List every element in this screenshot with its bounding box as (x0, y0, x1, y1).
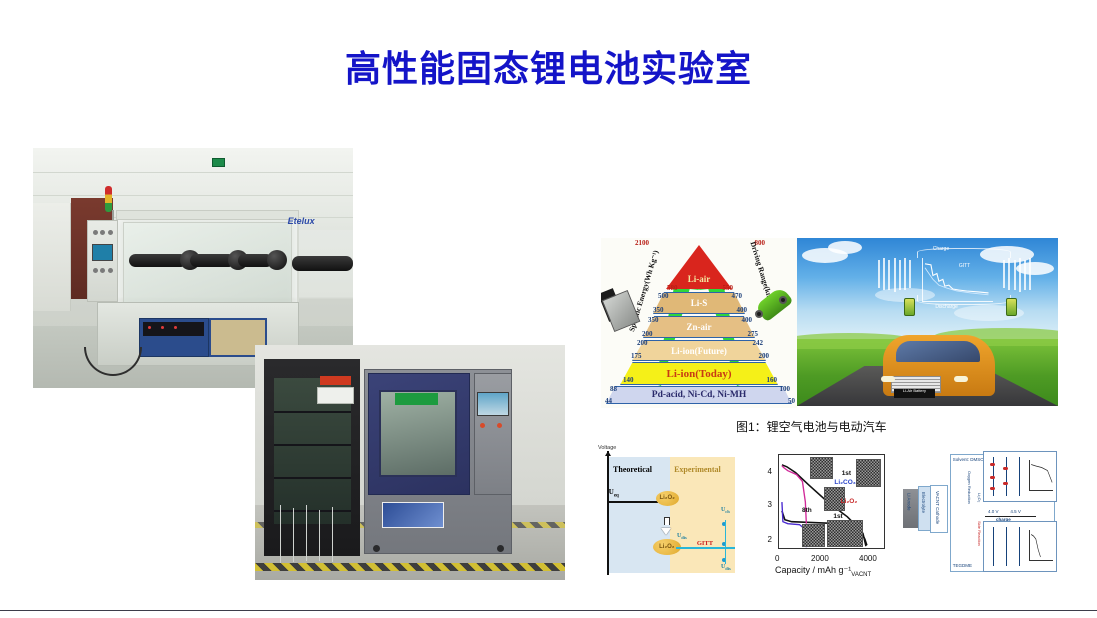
car-wheel-front (779, 296, 787, 304)
u-dis-right-subscript: dis (725, 566, 731, 571)
sem-inset-bottom-left (802, 524, 825, 546)
u-eq-subscript: eq (614, 494, 619, 499)
voltage-low-label: 4.0 V (988, 509, 999, 514)
y-tick-3: 3 (768, 500, 772, 509)
car-wheel-rear (755, 310, 763, 318)
tier-2-right-value-2: 275 (748, 330, 759, 338)
tier-5-left-value: 88 (610, 385, 617, 393)
equipment-front-panel (143, 322, 204, 336)
cycling-plot-bottom (1029, 530, 1053, 561)
glovebox-brand-logo: Etelux (288, 216, 315, 226)
gitt-label: GITT (959, 263, 970, 269)
schematic-panel-top (983, 451, 1057, 501)
annotation-8th: 8th (802, 507, 812, 514)
car-battery-badge: Li-Air Battery (894, 389, 936, 397)
transition-arrow-icon (661, 528, 671, 535)
glove-port-1 (129, 254, 187, 267)
pyramid-tier-label-2: Zn-air (686, 322, 711, 332)
test-chamber-photo (255, 345, 565, 580)
pyramid-tier-label-0: Li-air (688, 274, 711, 284)
cycling-plot-top (1029, 460, 1053, 491)
battery-energy-pyramid: Li-air 2100 800 580 550 Li-S 500 470 350… (601, 238, 797, 408)
x-tick-2000: 2000 (811, 554, 829, 563)
annotation-li2co3: Li₂CO₃ (834, 479, 855, 486)
pyramid-tier-zn-air: Zn-air (643, 316, 755, 338)
x-tick-4000: 4000 (859, 554, 877, 563)
u-ch-right-subscript: ch (725, 510, 730, 515)
glovebox-top-rail (116, 210, 298, 220)
reaction-step-1: Oxygen Reduction (967, 471, 972, 504)
glove-hand-3 (267, 250, 287, 270)
tier-0-left-value: 580 (667, 284, 678, 292)
y-tick-4: 4 (768, 467, 772, 476)
theoretical-experimental-voltage-diagram: Voltage Theoretical Experimental Ueq Li₂… (596, 443, 738, 580)
schematic-panel-bottom (983, 521, 1057, 571)
pyramid-tier-label-3: Li-ion(Future) (671, 346, 727, 356)
tier-5-right-value: 100 (780, 385, 791, 393)
car-headlight-right (954, 376, 968, 382)
component-3-label: VACNT Cathode (935, 491, 940, 524)
car-headlight-left (881, 376, 895, 382)
chamber-window-label (395, 393, 438, 405)
tier-3-right-value: 242 (753, 339, 764, 347)
chart-x-axis-label: Capacity / mAh g⁻¹VACNT (775, 565, 871, 578)
tier-1-right-value: 470 (732, 292, 743, 300)
pyramid-tier-li-ion-future: Li-ion(Future) (632, 340, 766, 361)
theoretical-label: Theoretical (613, 465, 652, 474)
annotation-1st-discharge: 1st (833, 513, 842, 520)
chamber-placard (382, 502, 444, 528)
chart-plot-area: 1st 8th 1st Li₂CO₃ Li₂O₂ (778, 454, 885, 549)
x-tick-0: 0 (775, 554, 779, 563)
rack-warning-label (320, 376, 351, 385)
presentation-slide: 高性能固态锂电池实验室 Etelux (0, 0, 1097, 618)
tier-5-right-value-2: 50 (788, 397, 795, 405)
chamber-touchscreen[interactable] (477, 392, 510, 416)
gitt-vertical-connector (725, 520, 727, 564)
car-windshield (896, 341, 980, 363)
voltage-y-axis (607, 451, 609, 574)
solvent-bottom-label: TEGDME (953, 563, 972, 568)
u-dis-subscript: dis (681, 536, 687, 541)
tier-3-left-value-2: 175 (631, 352, 642, 360)
annotation-li2o2: Li₂O₂ (841, 498, 858, 505)
component-2-label: Electrolyte (921, 492, 926, 513)
sem-inset-top-right (856, 459, 881, 487)
experimental-label: Experimental (674, 465, 721, 474)
tier-4-right-value: 160 (767, 376, 778, 384)
gitt-annotation: GITT (697, 540, 713, 547)
exit-sign-icon (212, 158, 225, 167)
transition-arrow-stem (664, 517, 670, 525)
tier-2-left-value-2: 200 (642, 330, 653, 338)
page-title: 高性能固态锂电池实验室 (0, 40, 1097, 92)
rack-info-label (317, 387, 354, 403)
equilibrium-voltage-line (609, 501, 659, 503)
pyramid-tier-label-1: Li-S (691, 298, 708, 308)
tier-1-left-value-2: 350 (653, 306, 664, 314)
pyramid-tier-label-4: Li-ion(Today) (666, 368, 731, 380)
tier-0-right-value: 550 (723, 284, 734, 292)
pyramid-tier-li-ion-today: Li-ion(Today) (620, 362, 778, 385)
pyramid-tier-label-5: Pd-acid, Ni-Cd, Ni-MH (652, 390, 746, 400)
slide-bottom-divider (0, 610, 1097, 611)
apex-left-value: 2100 (635, 239, 649, 247)
ev-landscape-illustration: GITT Charge Discharge Li-Air Battery (797, 238, 1058, 406)
antechamber-tube (292, 256, 353, 271)
battery-icon-left (904, 298, 915, 316)
sem-inset-bottom-right (827, 520, 863, 547)
annotation-1st-charge: 1st (842, 470, 851, 477)
voltage-axis-title: Voltage (598, 445, 616, 451)
pyramid-tier-lead-acid: Pd-acid, Ni-Cd, Ni-MH (606, 386, 792, 404)
theoretical-panel (607, 457, 669, 573)
voltage-high-label: 4.5 V (1010, 509, 1021, 514)
gitt-voltage-line (676, 547, 736, 549)
component-1-label: Li Anode (906, 493, 911, 511)
tier-4-left-value: 140 (623, 376, 634, 384)
status-tower-light (105, 186, 112, 212)
potential-vs-capacity-chart: Potential / V 4 3 2 1st 8th (745, 443, 895, 583)
tier-1-right-value-2: 400 (737, 306, 748, 314)
reaction-step-2: Li₂O₂ (977, 493, 982, 502)
figure-1-caption: 图1：锂空气电池与电动汽车 (736, 418, 887, 435)
tier-2-right-value: 400 (742, 316, 753, 324)
reaction-step-3: Side Reaction (977, 521, 982, 546)
process-arrow (985, 516, 1036, 517)
tier-3-right-value-2: 200 (759, 352, 770, 360)
sem-inset-top-left (810, 457, 833, 479)
li2o2-species-top: Li₂O₂ (656, 491, 679, 506)
battery-icon-right (1006, 298, 1017, 316)
left-cabinet (33, 203, 71, 311)
tier-2-left-value: 350 (648, 316, 659, 324)
cable-bundle (261, 505, 354, 566)
control-panel-display (92, 244, 113, 261)
cell-mechanism-schematic: Li Anode Electrolyte VACNT Cathode Solve… (900, 443, 1060, 583)
y-axis-arrow-icon (605, 451, 611, 456)
tier-1-left-value: 500 (658, 292, 669, 300)
x-axis-label-subscript: VACNT (851, 572, 871, 578)
x-axis-label-main: Capacity / mAh g⁻¹ (775, 565, 851, 575)
tier-3-left-value: 200 (637, 339, 648, 347)
y-tick-2: 2 (768, 535, 772, 544)
tier-5-left-value-2: 44 (605, 397, 612, 405)
